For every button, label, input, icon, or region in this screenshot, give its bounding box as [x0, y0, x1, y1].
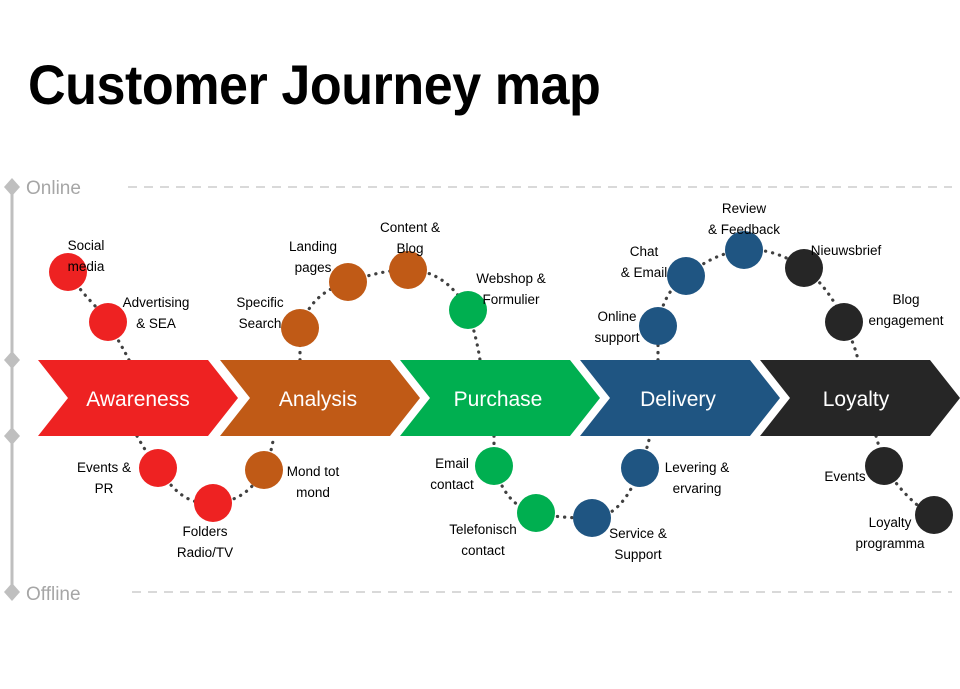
- touchpoint-label-blog-engagement: Blog: [892, 292, 919, 307]
- svg-text:Formulier: Formulier: [482, 292, 540, 307]
- stage-label-delivery: Delivery: [640, 388, 716, 411]
- touchpoint-review-feedback[interactable]: Review & Feedback: [708, 201, 780, 269]
- touchpoint-label-loyalty-programma: Loyalty: [869, 515, 912, 530]
- touchpoint-dot-service-support: [573, 499, 611, 537]
- touchpoint-specific-search[interactable]: Specific Search: [236, 295, 319, 347]
- touchpoint-dot-advertising-sea: [89, 303, 127, 341]
- svg-text:Search: Search: [239, 316, 282, 331]
- svg-text:contact: contact: [430, 477, 474, 492]
- touchpoint-label-online-support: Online: [597, 309, 636, 324]
- touchpoint-dot-events-pr: [139, 449, 177, 487]
- journey-map-diagram: Online Offline: [0, 0, 960, 689]
- svg-text:PR: PR: [95, 481, 114, 496]
- svg-text:& Feedback: & Feedback: [708, 222, 780, 237]
- touchpoint-nieuwsbrief[interactable]: Nieuwsbrief: [785, 243, 882, 287]
- touchpoint-label-nieuwsbrief: Nieuwsbrief: [811, 243, 882, 258]
- svg-text:& SEA: & SEA: [136, 316, 176, 331]
- touchpoint-dot-online-support: [639, 307, 677, 345]
- touchpoint-service-support[interactable]: Service & Support: [573, 499, 667, 562]
- svg-text:ervaring: ervaring: [673, 481, 722, 496]
- touchpoint-dot-levering-ervaring: [621, 449, 659, 487]
- svg-text:support: support: [594, 330, 639, 345]
- touchpoint-dot-chat-email: [667, 257, 705, 295]
- stage-chevron-awareness[interactable]: Awareness: [38, 360, 238, 436]
- touchpoint-dot-folders-radio-tv: [194, 484, 232, 522]
- touchpoint-blog-engagement[interactable]: Blog engagement: [825, 292, 944, 341]
- svg-text:contact: contact: [461, 543, 505, 558]
- touchpoint-label-landing-pages: Landing: [289, 239, 337, 254]
- svg-text:pages: pages: [295, 260, 332, 275]
- svg-text:Support: Support: [614, 547, 662, 562]
- stage-label-purchase: Purchase: [454, 388, 543, 411]
- axis-diamond-offline: [4, 583, 20, 601]
- touchpoint-webshop-formulier[interactable]: Webshop & Formulier: [449, 271, 546, 329]
- svg-text:programma: programma: [855, 536, 925, 551]
- touchpoint-telefonisch-contact[interactable]: Telefonisch contact: [449, 494, 555, 558]
- stage-label-analysis: Analysis: [279, 388, 357, 411]
- touchpoint-label-content-blog: Content &: [380, 220, 440, 235]
- touchpoint-dot-landing-pages: [329, 263, 367, 301]
- stage-chevron-purchase[interactable]: Purchase: [400, 360, 600, 436]
- touchpoint-label-telefonisch-contact: Telefonisch: [449, 522, 517, 537]
- touchpoint-dot-telefonisch-contact: [517, 494, 555, 532]
- touchpoint-label-chat-email: Chat: [630, 244, 659, 259]
- touchpoint-dot-content-blog: [389, 251, 427, 289]
- stage-label-loyalty: Loyalty: [823, 388, 890, 411]
- touchpoint-label-mond-tot-mond: Mond tot: [287, 464, 340, 479]
- axis-label-online: Online: [26, 178, 81, 199]
- stage-chevrons: Awareness Analysis Purchase Delivery Loy…: [38, 360, 960, 436]
- touchpoint-levering-ervaring[interactable]: Levering & ervaring: [621, 449, 729, 496]
- touchpoint-folders-radio-tv[interactable]: Folders Radio/TV: [177, 484, 233, 560]
- stage-chevron-loyalty[interactable]: Loyalty: [760, 360, 960, 436]
- touchpoint-label-webshop-formulier: Webshop &: [476, 271, 546, 286]
- touchpoint-dot-webshop-formulier: [449, 291, 487, 329]
- touchpoint-loyalty-programma[interactable]: Loyalty programma: [855, 496, 953, 551]
- touchpoint-dot-events: [865, 447, 903, 485]
- touchpoint-dot-loyalty-programma: [915, 496, 953, 534]
- touchpoint-email-contact[interactable]: Email contact: [430, 447, 513, 492]
- touchpoint-landing-pages[interactable]: Landing pages: [289, 239, 367, 301]
- axis-diamond-top-band: [4, 351, 20, 369]
- touchpoint-dot-mond-tot-mond: [245, 451, 283, 489]
- online-touchpoints: Social media Advertising & SEA Specific …: [49, 201, 944, 347]
- stage-label-awareness: Awareness: [86, 388, 190, 411]
- svg-text:engagement: engagement: [868, 313, 943, 328]
- touchpoint-events-pr[interactable]: Events & PR: [77, 449, 177, 496]
- touchpoint-label-review-feedback: Review: [722, 201, 767, 216]
- touchpoint-label-specific-search: Specific: [236, 295, 284, 310]
- stage-chevron-delivery[interactable]: Delivery: [580, 360, 780, 436]
- axis-label-offline: Offline: [26, 584, 81, 605]
- svg-text:Radio/TV: Radio/TV: [177, 545, 233, 560]
- touchpoint-online-support[interactable]: Online support: [594, 307, 677, 345]
- touchpoint-events[interactable]: Events: [824, 447, 903, 485]
- svg-text:mond: mond: [296, 485, 330, 500]
- touchpoint-label-levering-ervaring: Levering &: [665, 460, 730, 475]
- touchpoint-label-folders-radio-tv: Folders: [182, 524, 227, 539]
- touchpoint-content-blog[interactable]: Content & Blog: [380, 220, 440, 289]
- svg-text:Blog: Blog: [396, 241, 423, 256]
- touchpoint-label-advertising-sea: Advertising: [123, 295, 190, 310]
- svg-text:media: media: [68, 259, 105, 274]
- touchpoint-dot-email-contact: [475, 447, 513, 485]
- touchpoint-label-social-media: Social: [68, 238, 105, 253]
- touchpoint-mond-tot-mond[interactable]: Mond tot mond: [245, 451, 340, 500]
- touchpoint-label-service-support: Service &: [609, 526, 667, 541]
- touchpoint-advertising-sea[interactable]: Advertising & SEA: [89, 295, 189, 341]
- axis-diamond-bottom-band: [4, 427, 20, 445]
- svg-text:& Email: & Email: [621, 265, 668, 280]
- touchpoint-chat-email[interactable]: Chat & Email: [621, 244, 705, 295]
- touchpoint-label-events: Events: [824, 469, 866, 484]
- touchpoint-dot-blog-engagement: [825, 303, 863, 341]
- touchpoint-label-events-pr: Events &: [77, 460, 131, 475]
- touchpoint-dot-specific-search: [281, 309, 319, 347]
- axis-diamond-online: [4, 178, 20, 196]
- stage-chevron-analysis[interactable]: Analysis: [220, 360, 420, 436]
- touchpoint-social-media[interactable]: Social media: [49, 238, 105, 291]
- touchpoint-label-email-contact: Email: [435, 456, 469, 471]
